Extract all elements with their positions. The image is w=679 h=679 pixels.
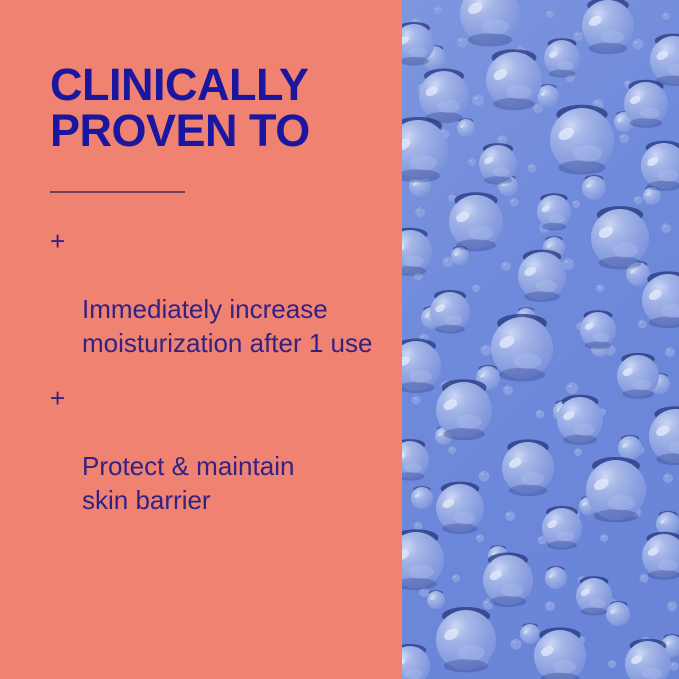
claim-text: Immediately increase moisturization afte… <box>82 294 372 358</box>
droplet-image-panel <box>402 0 679 679</box>
claims-list: + Immediately increase moisturization af… <box>50 224 395 517</box>
promo-card: CLINICALLY PROVEN TO + Immediately incre… <box>0 0 679 679</box>
list-item: + Protect & maintain skin barrier <box>50 381 395 517</box>
plus-icon: + <box>50 381 72 415</box>
divider <box>50 191 185 193</box>
water-droplets-image <box>402 0 679 679</box>
plus-icon: + <box>50 224 72 258</box>
page-title: CLINICALLY PROVEN TO <box>50 62 390 154</box>
copy-panel: CLINICALLY PROVEN TO + Immediately incre… <box>0 0 402 679</box>
claim-text: Protect & maintain skin barrier <box>82 451 294 515</box>
list-item: + Immediately increase moisturization af… <box>50 224 395 360</box>
